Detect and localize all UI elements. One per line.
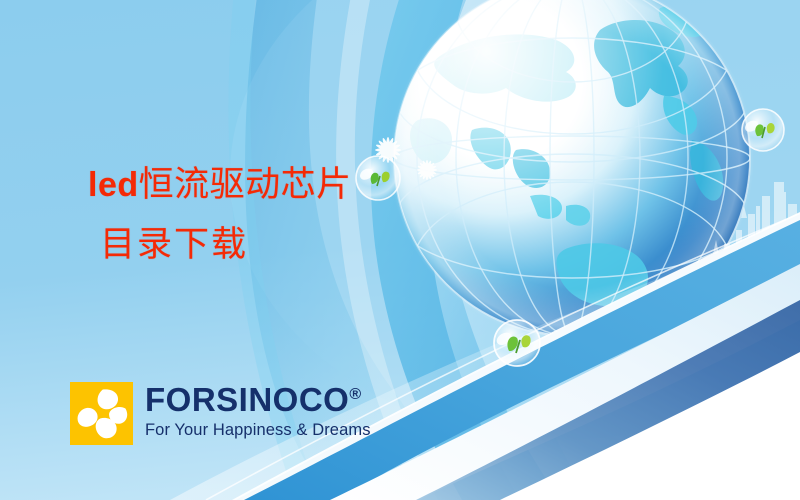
glass-bubble-sprout — [494, 320, 540, 366]
headline-line-1-cjk: 恒流驱动芯片 — [139, 165, 352, 204]
forsinoco-logo[interactable]: FORSINOCO® For Your Happiness & Dreams — [70, 382, 371, 445]
logo-text-block: FORSINOCO® For Your Happiness & Dreams — [145, 383, 371, 439]
glass-bubble-sprout — [356, 156, 400, 200]
headline-line-1-latin: led — [88, 166, 139, 204]
headline: led恒流驱动芯片 目录下载 — [88, 163, 352, 268]
registered-trademark-icon: ® — [349, 386, 361, 403]
promo-banner: led恒流驱动芯片 目录下载 FORSINOCO® For Your Happi… — [0, 0, 800, 500]
glass-bubble-sprout — [742, 109, 784, 151]
headline-line-1: led恒流驱动芯片 — [88, 163, 352, 208]
logo-wordmark-text: FORSINOCO — [145, 381, 349, 418]
logo-wordmark: FORSINOCO® — [145, 383, 371, 416]
headline-line-2: 目录下载 — [100, 223, 352, 268]
forsinoco-pinwheel-mark — [70, 382, 133, 445]
sparkle-star — [417, 160, 437, 180]
logo-tagline: For Your Happiness & Dreams — [145, 422, 371, 439]
